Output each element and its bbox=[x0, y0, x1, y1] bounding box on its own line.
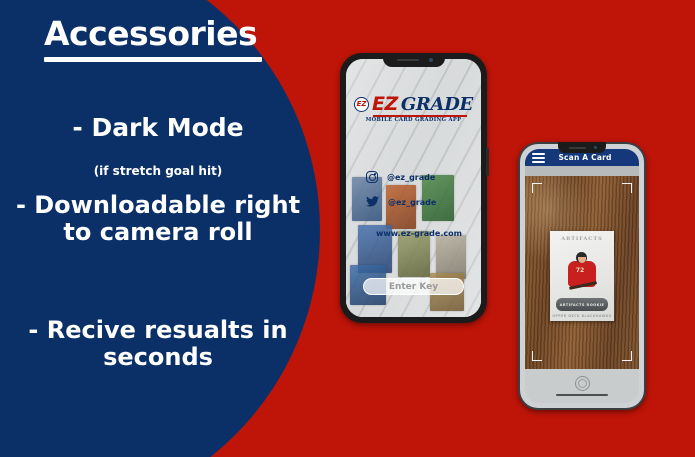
phone-bezel: Scan A Card ARTIFACTS 72 bbox=[520, 144, 644, 408]
phone-mockup-scan: Scan A Card ARTIFACTS 72 bbox=[518, 142, 646, 410]
earpiece-speaker bbox=[569, 147, 586, 149]
scan-screen: Scan A Card ARTIFACTS 72 bbox=[525, 149, 639, 403]
scan-bracket-top-left bbox=[532, 183, 542, 193]
card-player-name: ARTIFACTS ROOKIE bbox=[560, 303, 605, 307]
player-face bbox=[578, 257, 586, 263]
logo-word-ez: EZ bbox=[372, 95, 398, 114]
app-logo: EZ EZ GRADE MOBILE CARD GRADING APP bbox=[355, 95, 473, 123]
camera-toolbar bbox=[525, 369, 639, 403]
hockey-card: ARTIFACTS 72 ARTIFACTS ROOKIE UPPER DECK… bbox=[550, 231, 614, 321]
website-link[interactable]: www.ez-grade.com bbox=[376, 229, 462, 238]
logo-tagline: MOBILE CARD GRADING APP bbox=[355, 118, 473, 123]
phone-mockup-home: EZ EZ GRADE MOBILE CARD GRADING APP @ez_… bbox=[340, 53, 487, 323]
logo-word-grade: GRADE bbox=[401, 96, 473, 114]
phone-notch bbox=[383, 53, 445, 67]
camera-viewfinder[interactable]: ARTIFACTS 72 ARTIFACTS ROOKIE UPPER DECK… bbox=[525, 176, 639, 369]
card-brand-text: ARTIFACTS bbox=[550, 236, 614, 242]
scan-bracket-top-right bbox=[622, 183, 632, 193]
power-button[interactable] bbox=[486, 148, 489, 176]
social-links-list: @ez_grade @ez_grade bbox=[366, 171, 476, 221]
phone-notch bbox=[558, 142, 606, 153]
jersey-number: 72 bbox=[574, 267, 586, 274]
enter-key-input[interactable]: Enter Key bbox=[363, 278, 464, 295]
card-footer-text: UPPER DECK BLACKHAWKS bbox=[550, 314, 614, 318]
phone-home-screen: EZ EZ GRADE MOBILE CARD GRADING APP @ez_… bbox=[346, 59, 481, 317]
scan-bracket-bottom-right bbox=[622, 351, 632, 361]
logo-wordmark-row: EZ EZ GRADE bbox=[355, 95, 473, 114]
bullet-item-downloadable: - Downloadable right to camera roll bbox=[8, 192, 308, 246]
card-nameplate: ARTIFACTS ROOKIE bbox=[556, 298, 608, 311]
hamburger-menu-icon[interactable] bbox=[532, 153, 545, 163]
status-band bbox=[525, 166, 639, 176]
slide-canvas: Accessories - Dark Mode (if stretch goal… bbox=[0, 0, 695, 457]
scan-bracket-bottom-left bbox=[532, 351, 542, 361]
title-group: Accessories bbox=[44, 16, 276, 62]
home-indicator bbox=[556, 394, 608, 396]
front-camera-icon bbox=[429, 58, 433, 62]
card-player-photo: 72 bbox=[565, 251, 599, 295]
instagram-icon bbox=[366, 171, 378, 183]
bullet-subtext-stretch-goal: (if stretch goal hit) bbox=[8, 164, 308, 178]
front-camera-icon bbox=[594, 146, 597, 149]
scan-screen-title: Scan A Card bbox=[545, 153, 625, 162]
bullet-item-dark-mode: - Dark Mode bbox=[8, 114, 308, 142]
twitter-handle: @ez_grade bbox=[388, 198, 436, 207]
shutter-button[interactable] bbox=[575, 376, 590, 391]
social-row-twitter[interactable]: @ez_grade bbox=[366, 196, 476, 208]
earpiece-speaker bbox=[397, 59, 419, 61]
left-text-column: Accessories - Dark Mode (if stretch goal… bbox=[0, 0, 320, 457]
social-row-instagram[interactable]: @ez_grade bbox=[366, 171, 476, 183]
page-title: Accessories bbox=[44, 16, 276, 52]
shutter-inner-ring bbox=[578, 379, 587, 388]
ez-badge-icon: EZ bbox=[354, 97, 369, 112]
bullet-item-results: - Recive resualts in seconds bbox=[8, 317, 308, 371]
title-underline bbox=[44, 57, 262, 62]
twitter-icon bbox=[366, 196, 379, 208]
instagram-handle: @ez_grade bbox=[387, 173, 435, 182]
